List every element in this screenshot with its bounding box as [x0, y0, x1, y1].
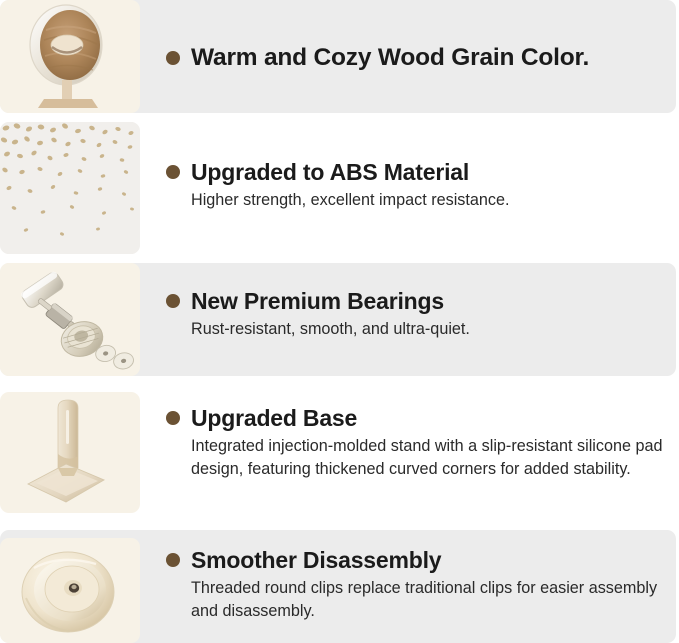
feature-description: Higher strength, excellent impact resist…: [191, 189, 666, 212]
feature-row: Upgraded Base Integrated injection-molde…: [0, 376, 679, 530]
title-line: Smoother Disassembly: [166, 547, 666, 573]
bullet-icon: [166, 553, 180, 567]
feature-title: New Premium Bearings: [191, 288, 444, 314]
bullet-icon: [166, 294, 180, 308]
feature-row: Warm and Cozy Wood Grain Color.: [0, 0, 679, 113]
title-line: Upgraded to ABS Material: [166, 159, 666, 185]
bullet-icon: [166, 165, 180, 179]
feature-title: Upgraded Base: [191, 405, 357, 431]
feature-text: Warm and Cozy Wood Grain Color.: [166, 44, 666, 72]
feature-title: Smoother Disassembly: [191, 547, 441, 573]
bearing-assembly-thumbnail: [0, 263, 140, 376]
feature-row: Smoother Disassembly Threaded round clip…: [0, 530, 679, 643]
threaded-round-clip-thumbnail: [0, 538, 140, 643]
feature-row: Upgraded to ABS Material Higher strength…: [0, 113, 679, 263]
feature-description: Threaded round clips replace traditional…: [191, 577, 666, 623]
title-line: Upgraded Base: [166, 405, 666, 431]
feature-description: Integrated injection-molded stand with a…: [191, 435, 666, 481]
base-stand-thumbnail: [0, 392, 140, 513]
abs-pellets-thumbnail: [0, 122, 140, 254]
feature-row: New Premium Bearings Rust-resistant, smo…: [0, 263, 679, 376]
feature-text: Smoother Disassembly Threaded round clip…: [166, 547, 666, 623]
title-line: Warm and Cozy Wood Grain Color.: [166, 44, 666, 72]
feature-description: Rust-resistant, smooth, and ultra-quiet.: [191, 318, 666, 341]
feature-text: New Premium Bearings Rust-resistant, smo…: [166, 288, 666, 341]
feature-text: Upgraded to ABS Material Higher strength…: [166, 159, 666, 212]
wood-grain-fan-thumbnail: [0, 0, 140, 113]
feature-list: Warm and Cozy Wood Grain Color.: [0, 0, 679, 643]
feature-title: Warm and Cozy Wood Grain Color.: [191, 44, 589, 72]
bullet-icon: [166, 51, 180, 65]
feature-text: Upgraded Base Integrated injection-molde…: [166, 405, 666, 481]
feature-title: Upgraded to ABS Material: [191, 159, 469, 185]
title-line: New Premium Bearings: [166, 288, 666, 314]
bullet-icon: [166, 411, 180, 425]
